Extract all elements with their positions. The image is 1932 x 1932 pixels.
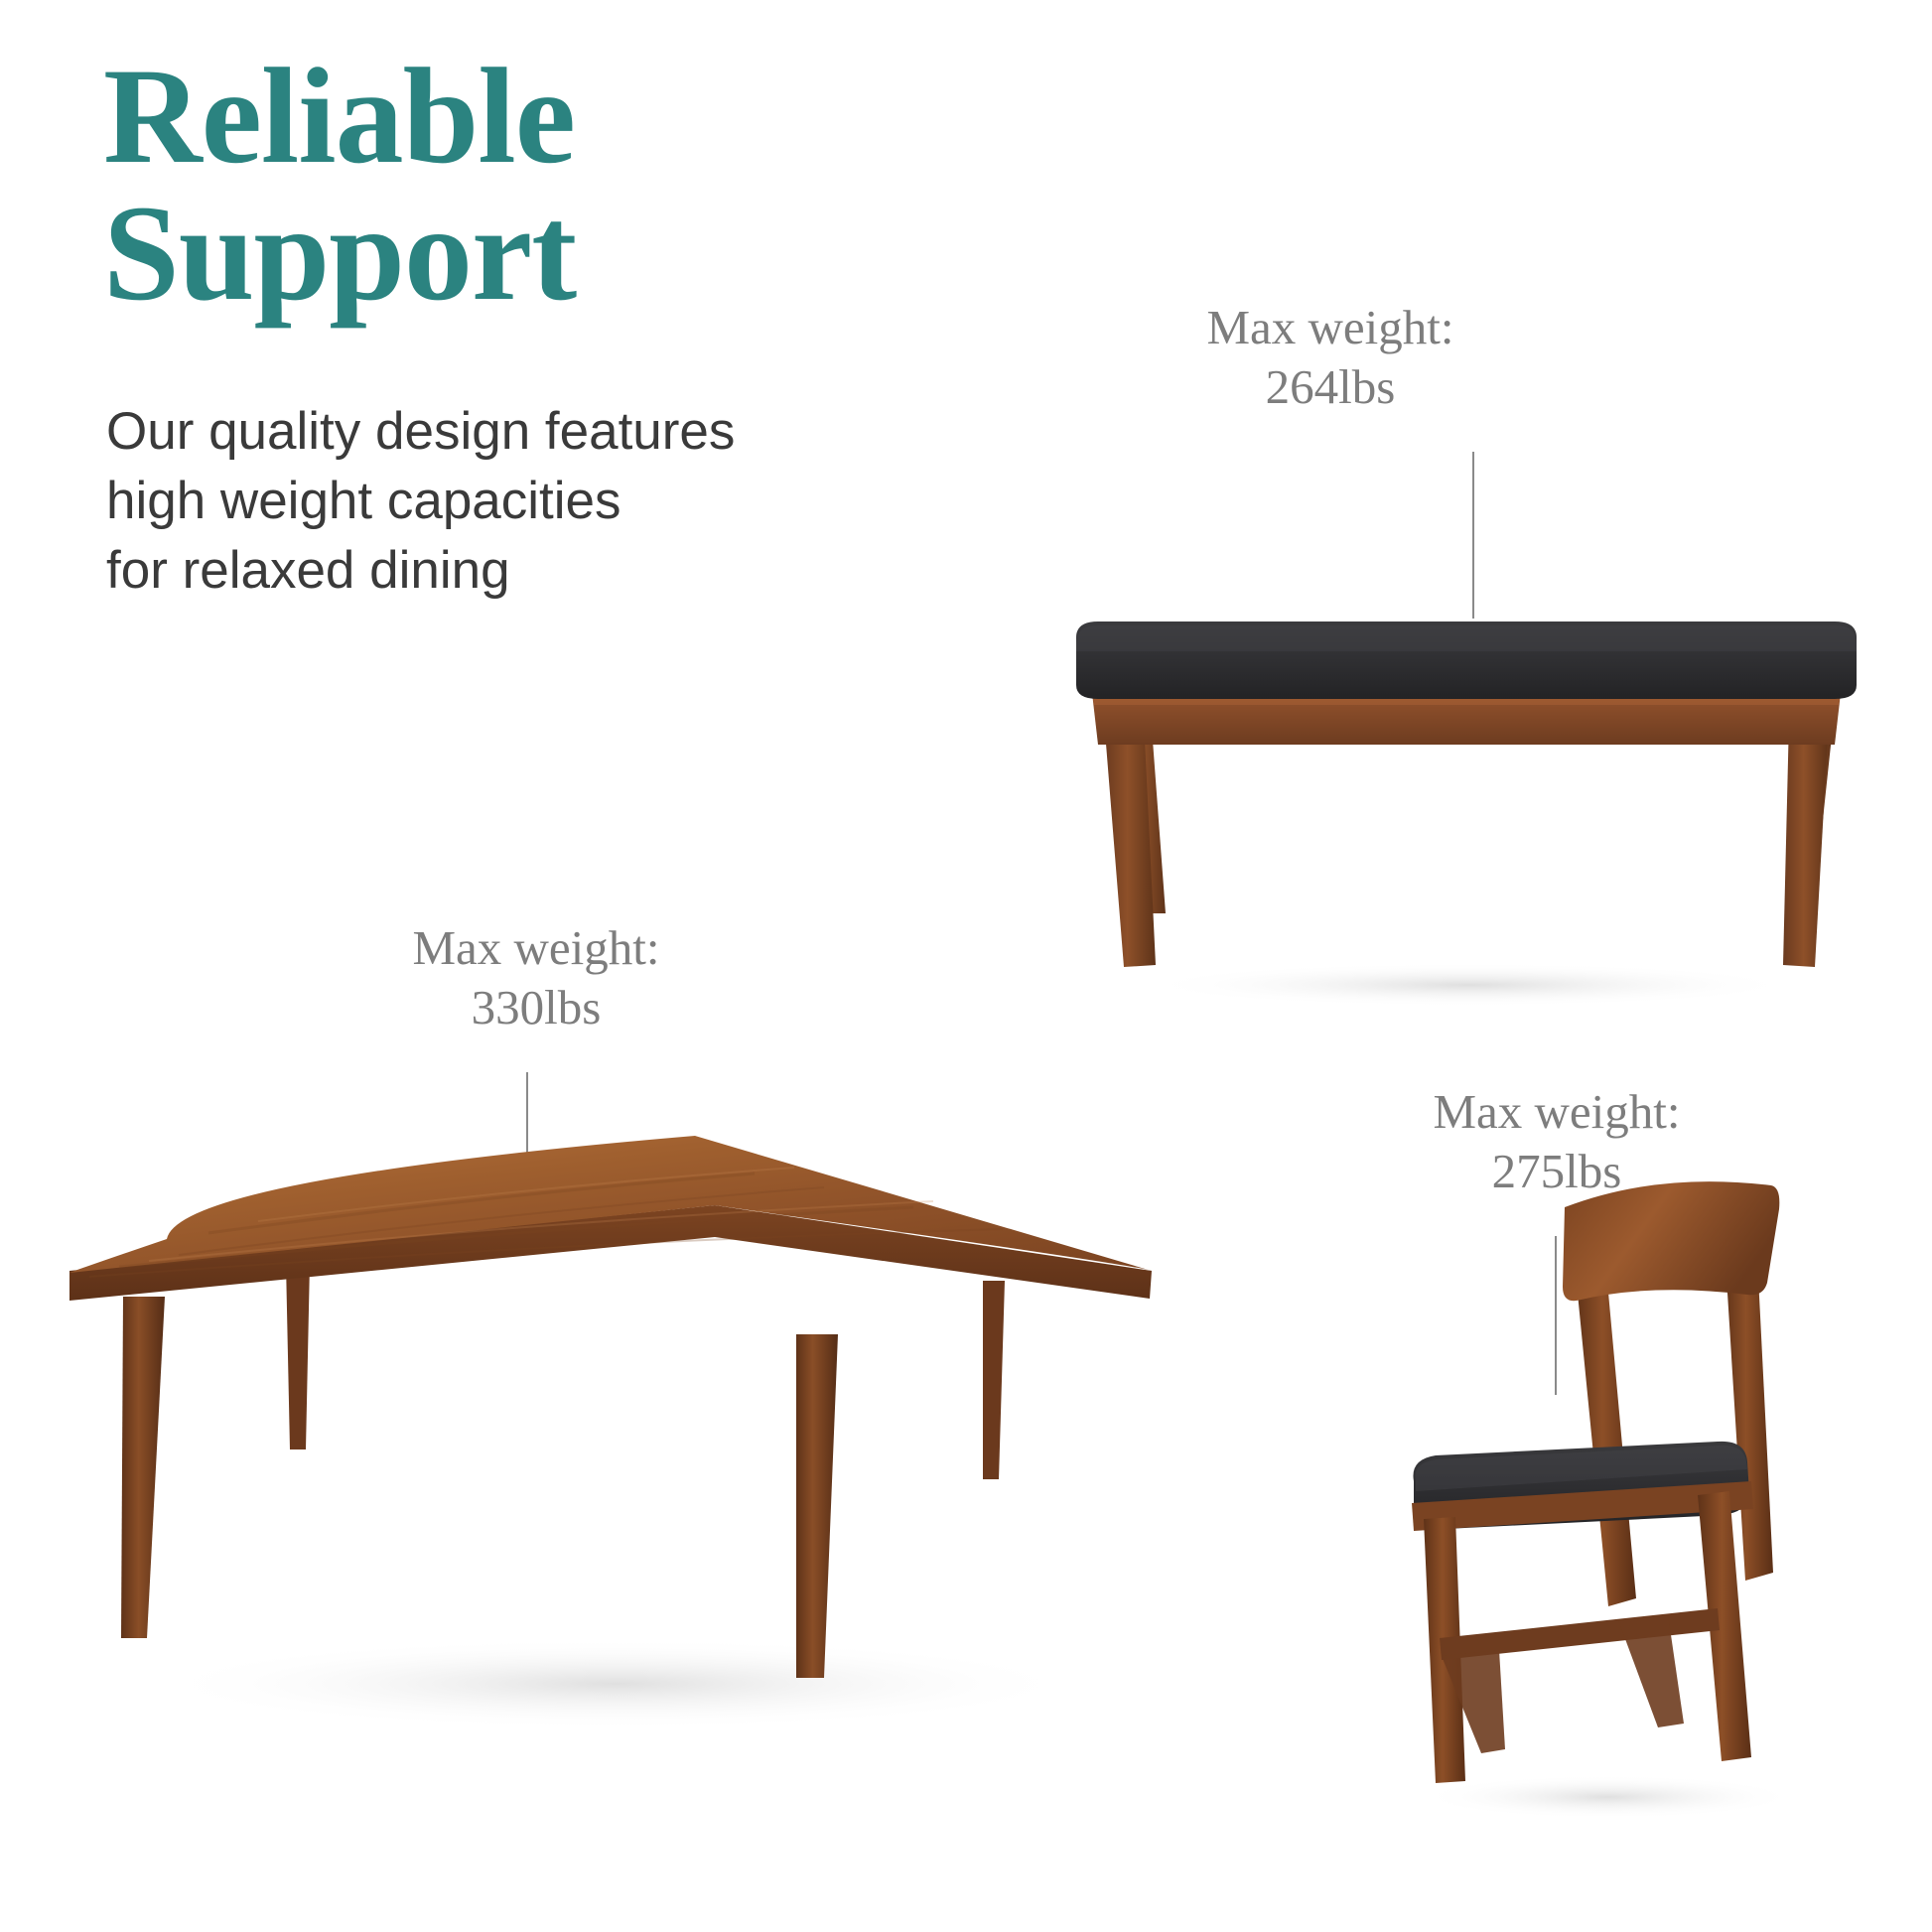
callout-bench-line-2: 264lbs	[1206, 357, 1453, 417]
callout-table: Max weight: 330lbs	[412, 918, 659, 1037]
page-title-line-1: Reliable	[103, 48, 858, 185]
page-subtitle-line-1: Our quality design features	[106, 397, 960, 467]
callout-bench: Max weight: 264lbs	[1206, 298, 1453, 417]
callout-bench-line-1: Max weight:	[1206, 298, 1453, 357]
leader-line-bench	[1472, 452, 1474, 619]
page-subtitle-line-2: high weight capacities	[106, 467, 960, 536]
page-subtitle: Our quality design features high weight …	[106, 397, 960, 606]
product-feature-graphic: Reliable Support Our quality design feat…	[0, 0, 1932, 1932]
callout-table-line-1: Max weight:	[412, 918, 659, 978]
page-subtitle-line-3: for relaxed dining	[106, 536, 960, 606]
callout-table-line-2: 330lbs	[412, 978, 659, 1037]
dining-table-image	[60, 1122, 1162, 1737]
bench-image	[1052, 616, 1876, 1013]
dining-chair-image	[1370, 1172, 1817, 1827]
page-title: Reliable Support	[103, 48, 858, 322]
callout-chair-line-1: Max weight:	[1433, 1082, 1680, 1142]
page-title-line-2: Support	[103, 185, 858, 322]
